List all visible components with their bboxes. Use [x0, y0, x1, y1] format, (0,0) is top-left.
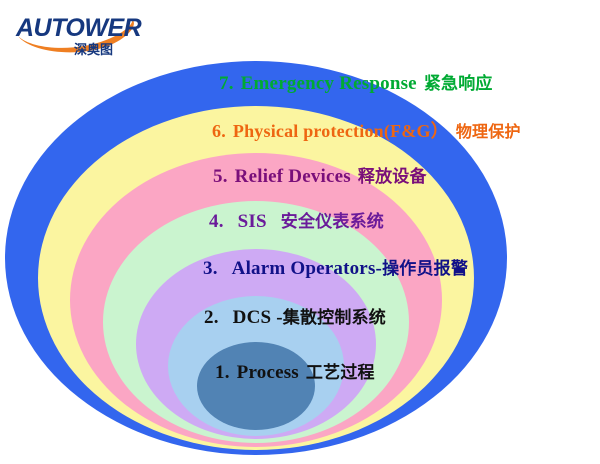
layers-of-protection-diagram: [0, 0, 600, 464]
layer-ellipse-1: [197, 342, 315, 430]
